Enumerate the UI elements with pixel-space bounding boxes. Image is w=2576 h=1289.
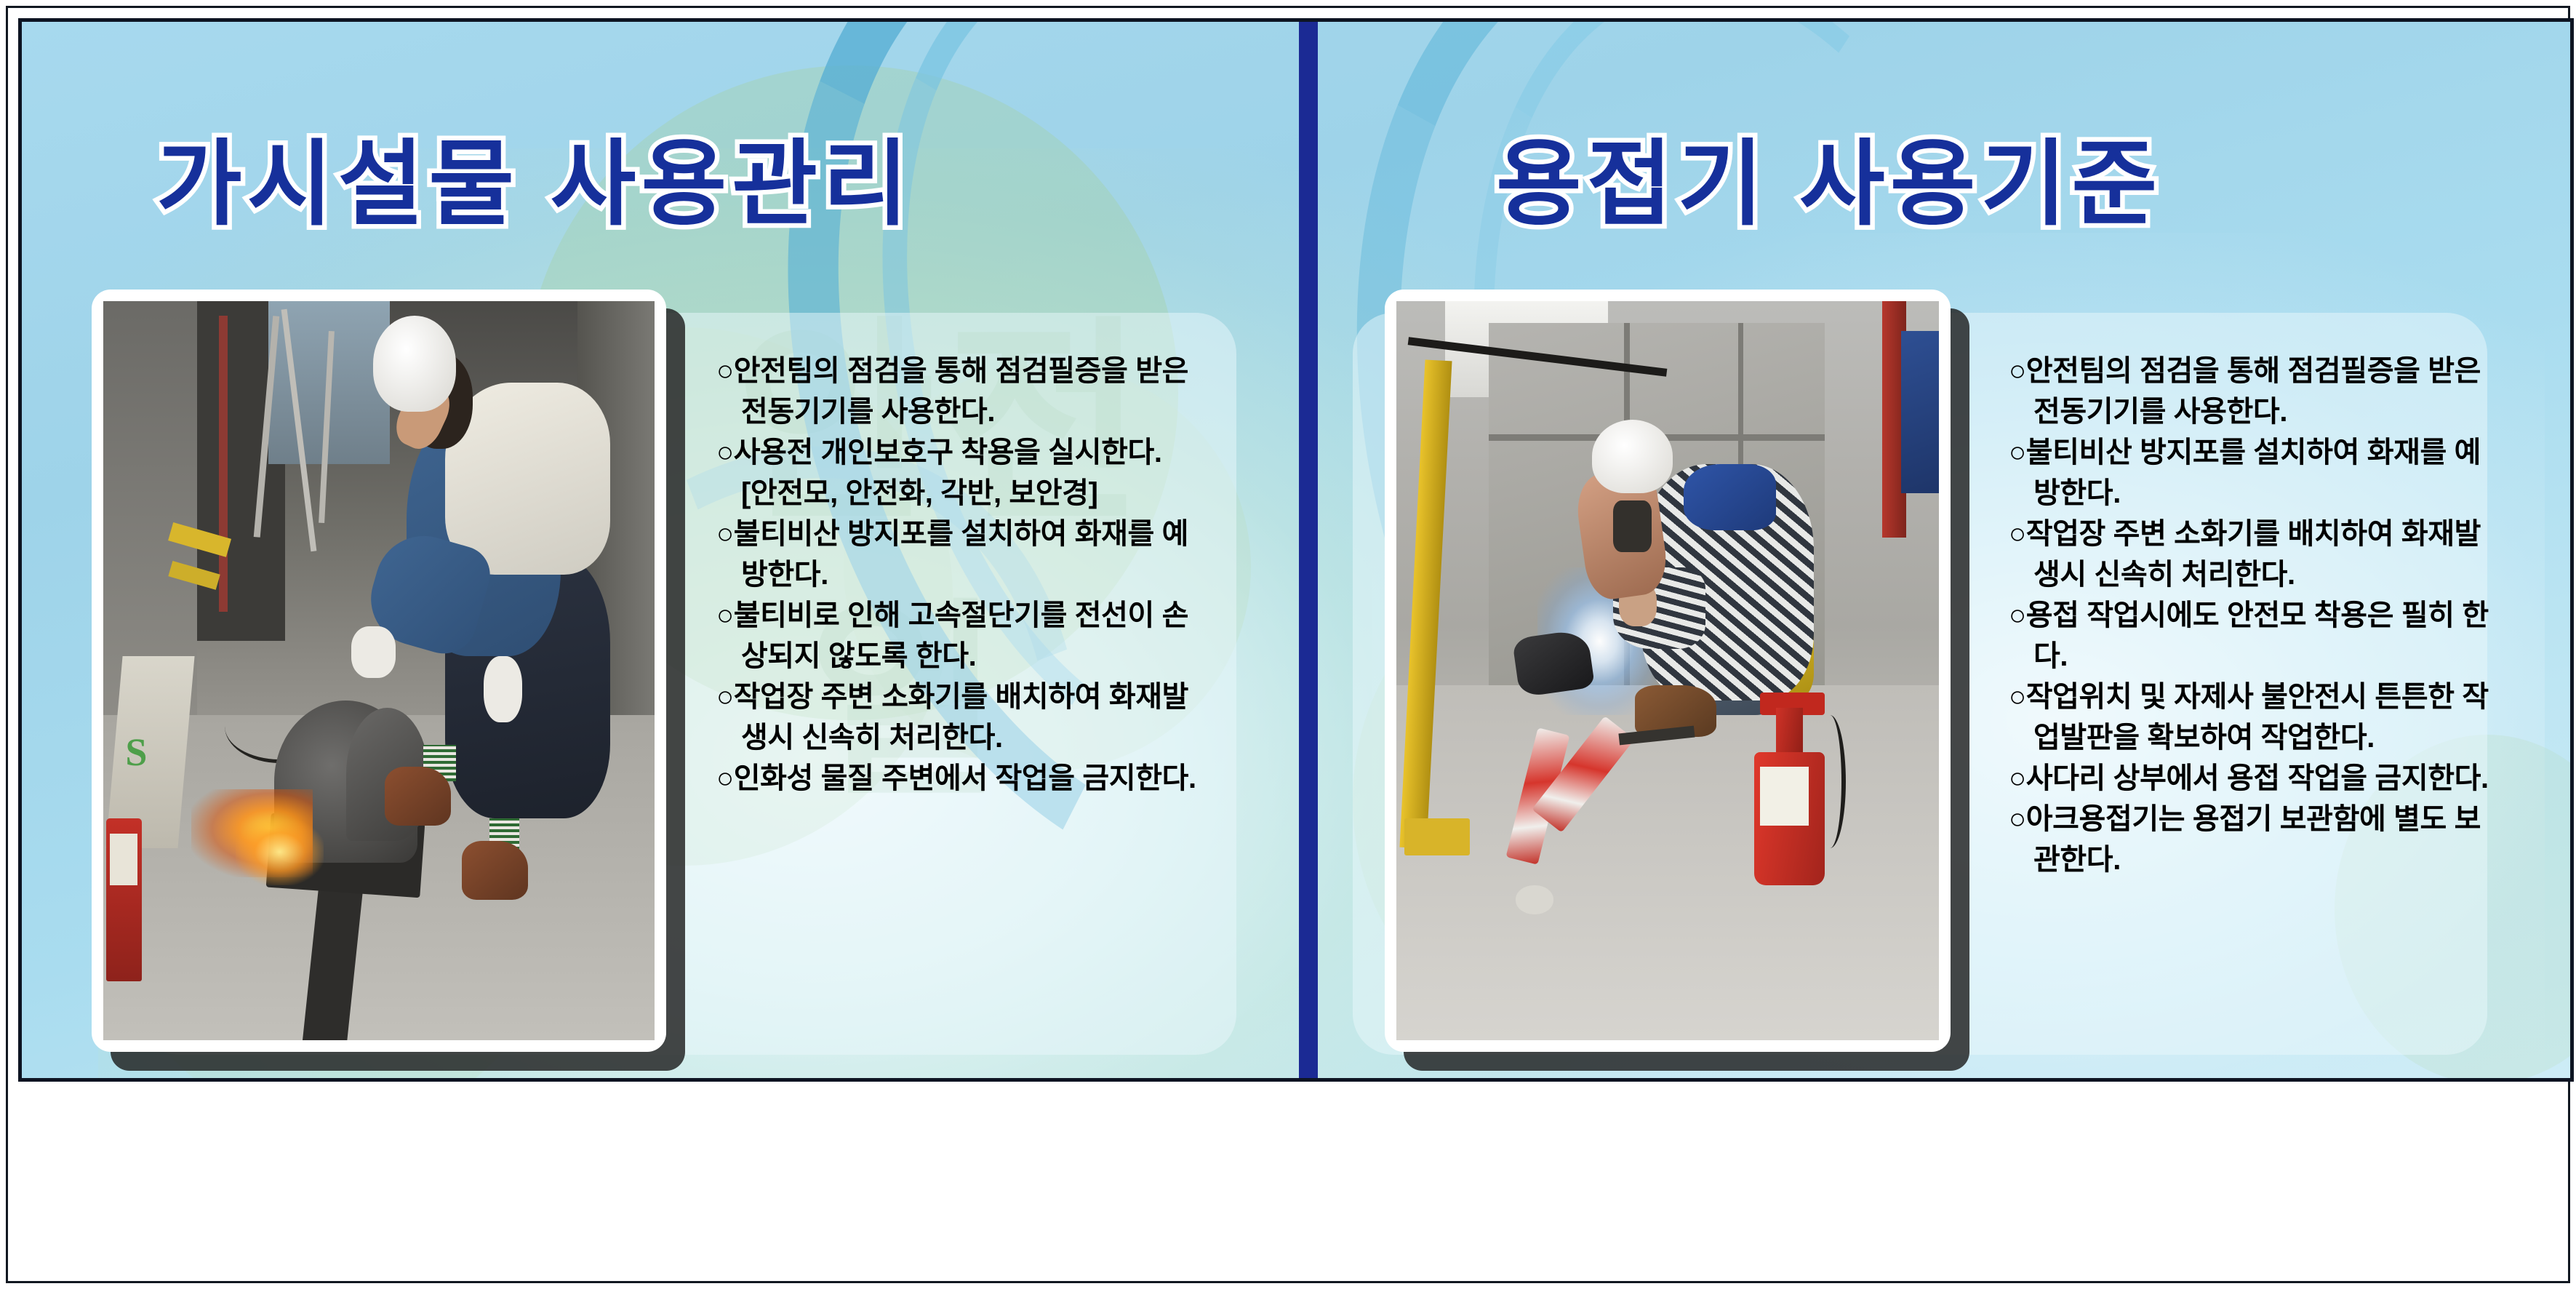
- left-photo-card: S: [92, 290, 666, 1052]
- bullet-item: ○작업장 주변 소화기를 배치하여 화재발: [716, 677, 1255, 717]
- right-photo-card: [1385, 290, 1951, 1052]
- bullet-item: ○사용전 개인보호구 착용을 실시한다.: [716, 432, 1255, 473]
- welding-photo: [1396, 301, 1939, 1040]
- right-title: 용접기 사용기준: [1496, 138, 2162, 231]
- bullet-item-continuation: 관한다.: [2009, 839, 2547, 880]
- bullet-item: ○아크용접기는 용접기 보관함에 별도 보: [2009, 799, 2547, 839]
- center-divider: [1299, 22, 1318, 1082]
- right-column: 용접기 사용기준: [1318, 22, 2574, 1082]
- right-bullet-list: ○안전팀의 점검을 통해 점검필증을 받은전동기기를 사용한다.○불티비산 방지…: [2009, 351, 2547, 880]
- poster-page: 안전 일 안 가시설물 사용관리: [0, 0, 2576, 1289]
- bullet-item: ○사다리 상부에서 용접 작업을 금지한다.: [2009, 758, 2547, 799]
- cut-off-saw-photo: S: [103, 301, 655, 1040]
- left-title: 가시설물 사용관리: [156, 138, 913, 231]
- page-outer-border: 안전 일 안 가시설물 사용관리: [6, 6, 2570, 1283]
- bullet-item: ○불티비산 방지포를 설치하여 화재를 예: [2009, 432, 2547, 473]
- left-bullet-list: ○안전팀의 점검을 통해 점검필증을 받은전동기기를 사용한다.○사용전 개인보…: [716, 351, 1255, 799]
- poster-panel: 안전 일 안 가시설물 사용관리: [18, 18, 2574, 1082]
- bullet-item-continuation: 전동기기를 사용한다.: [716, 391, 1255, 432]
- bullet-item: ○용접 작업시에도 안전모 착용은 필히 한: [2009, 595, 2547, 636]
- bullet-item-continuation: 생시 신속히 처리한다.: [716, 717, 1255, 758]
- bullet-item: ○안전팀의 점검을 통해 점검필증을 받은: [716, 351, 1255, 391]
- bullet-item-continuation: 방한다.: [716, 554, 1255, 595]
- bullet-item: ○작업위치 및 자제사 불안전시 튼튼한 작: [2009, 677, 2547, 717]
- bullet-item: ○인화성 물질 주변에서 작업을 금지한다.: [716, 758, 1255, 799]
- bullet-item: ○불티비로 인해 고속절단기를 전선이 손: [716, 595, 1255, 636]
- bullet-item-continuation: 전동기기를 사용한다.: [2009, 391, 2547, 432]
- bullet-item-continuation: 방한다.: [2009, 473, 2547, 514]
- bullet-item: ○작업장 주변 소화기를 배치하여 화재발: [2009, 514, 2547, 554]
- bullet-item-continuation: 생시 신속히 처리한다.: [2009, 554, 2547, 595]
- bullet-item-continuation: [안전모, 안전화, 각반, 보안경]: [716, 473, 1255, 514]
- bullet-item-continuation: 업발판을 확보하여 작업한다.: [2009, 717, 2547, 758]
- bullet-item-continuation: 다.: [2009, 636, 2547, 677]
- bullet-item: ○불티비산 방지포를 설치하여 화재를 예: [716, 514, 1255, 554]
- bullet-item-continuation: 상되지 않도록 한다.: [716, 636, 1255, 677]
- bullet-item: ○안전팀의 점검을 통해 점검필증을 받은: [2009, 351, 2547, 391]
- left-column: 가시설물 사용관리 S: [22, 22, 1299, 1082]
